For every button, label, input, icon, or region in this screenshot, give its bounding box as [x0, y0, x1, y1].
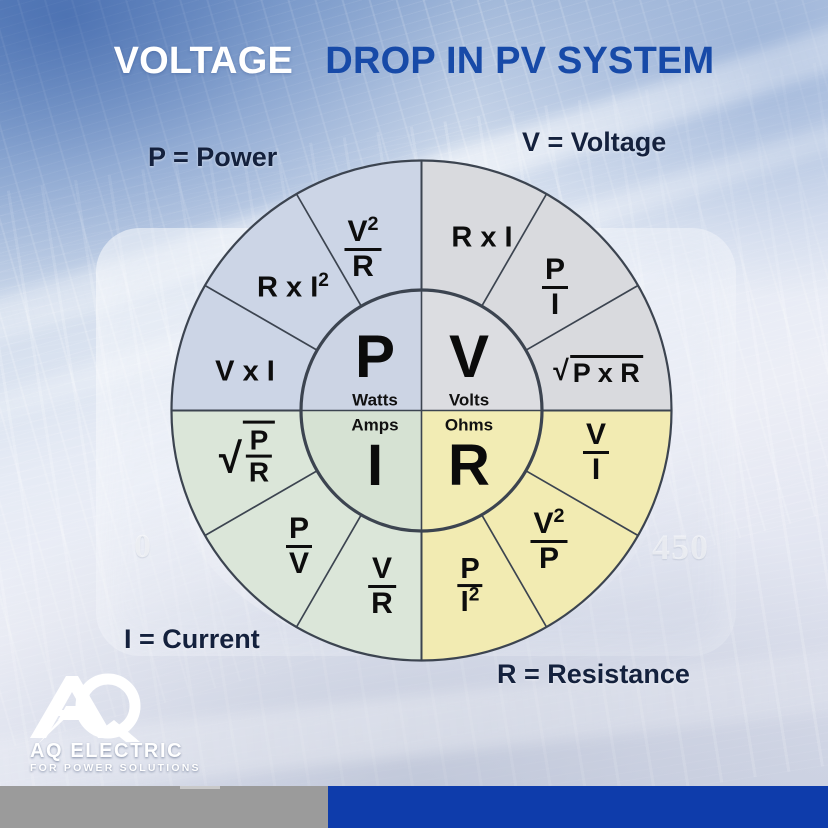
- core-symbol-voltage: V: [449, 327, 489, 387]
- ohms-law-wheel: P Watts V Volts Amps I Ohms R V2 R R x I…: [170, 159, 673, 662]
- seg-den: V: [286, 548, 312, 580]
- bottom-bar-blue-section: [328, 786, 828, 828]
- segment-current-p-over-v: P V: [286, 513, 312, 579]
- caption-resistance: R = Resistance: [497, 659, 690, 690]
- seg-num: V: [533, 507, 553, 540]
- segment-current-v-over-r: V R: [368, 553, 396, 619]
- core-unit-watts: Watts: [352, 392, 398, 409]
- caption-power: P = Power: [148, 142, 277, 173]
- radical-icon: √: [553, 357, 569, 385]
- seg-text: R x I: [257, 272, 318, 304]
- seg-sup: 2: [318, 270, 329, 291]
- bottom-bar: [0, 786, 828, 828]
- logo-name: AQ ELECTRIC: [30, 740, 183, 763]
- seg-text: P x R: [570, 355, 643, 387]
- core-symbol-current: I: [367, 437, 383, 495]
- seg-den: R: [246, 458, 272, 487]
- segment-resistance-p-over-i2: P I2: [457, 554, 482, 618]
- seg-text: V x I: [215, 356, 275, 388]
- caption-current: I = Current: [124, 624, 260, 655]
- segment-power-v-times-i: V x I: [215, 358, 275, 387]
- segment-voltage-r-times-i: R x I: [451, 224, 512, 253]
- title-blue-part: DROP IN PV SYSTEM: [325, 40, 714, 82]
- seg-num: P: [246, 426, 272, 458]
- seg-den: R: [344, 251, 381, 283]
- segment-power-v2-over-r: V2 R: [344, 216, 381, 282]
- wheel-core-fills: [170, 159, 673, 662]
- seg-num: P: [286, 513, 312, 548]
- seg-text: R x I: [451, 222, 512, 254]
- segment-resistance-v-over-i: V I: [583, 419, 609, 485]
- seg-den-sup: 2: [469, 585, 480, 606]
- seg-num-sup: 2: [554, 505, 565, 527]
- segment-power-r-times-i2: R x I2: [257, 274, 329, 303]
- logo-tagline: FOR POWER SOLUTIONS: [30, 762, 201, 774]
- caption-voltage: V = Voltage: [522, 127, 666, 158]
- core-symbol-resistance: R: [448, 437, 490, 495]
- core-unit-amps: Amps: [351, 417, 398, 434]
- page-title: VOLTAGE DROP IN PV SYSTEM: [0, 40, 828, 83]
- seg-num: P: [457, 554, 482, 587]
- seg-num: P: [542, 254, 568, 289]
- seg-num-sup: 2: [368, 213, 379, 235]
- seg-den: R: [368, 588, 396, 620]
- logo[interactable]: AQ ELECTRIC FOR POWER SOLUTIONS: [22, 672, 222, 776]
- aq-monogram-icon: [22, 672, 172, 744]
- radical-icon: √: [219, 438, 242, 480]
- core-unit-volts: Volts: [449, 392, 489, 409]
- seg-num: V: [368, 553, 396, 588]
- bottom-bar-gray-section: [0, 786, 328, 828]
- seg-den: P: [530, 543, 567, 575]
- core-unit-ohms: Ohms: [445, 417, 493, 434]
- bottom-bar-notch: [180, 786, 220, 789]
- title-white-part: VOLTAGE: [114, 40, 293, 82]
- seg-den: I: [583, 454, 609, 486]
- segment-current-sqrt-p-over-r: √ P R: [219, 421, 275, 488]
- seg-den: I: [542, 289, 568, 321]
- seg-num: V: [583, 419, 609, 454]
- segment-resistance-v2-over-p: V2 P: [530, 508, 567, 574]
- ghost-scale-left: 0: [134, 528, 152, 566]
- seg-num: V: [347, 215, 367, 248]
- segment-voltage-sqrt-p-times-r: √ P x R: [553, 355, 643, 387]
- core-symbol-power: P: [355, 327, 395, 387]
- segment-voltage-p-over-i: P I: [542, 254, 568, 320]
